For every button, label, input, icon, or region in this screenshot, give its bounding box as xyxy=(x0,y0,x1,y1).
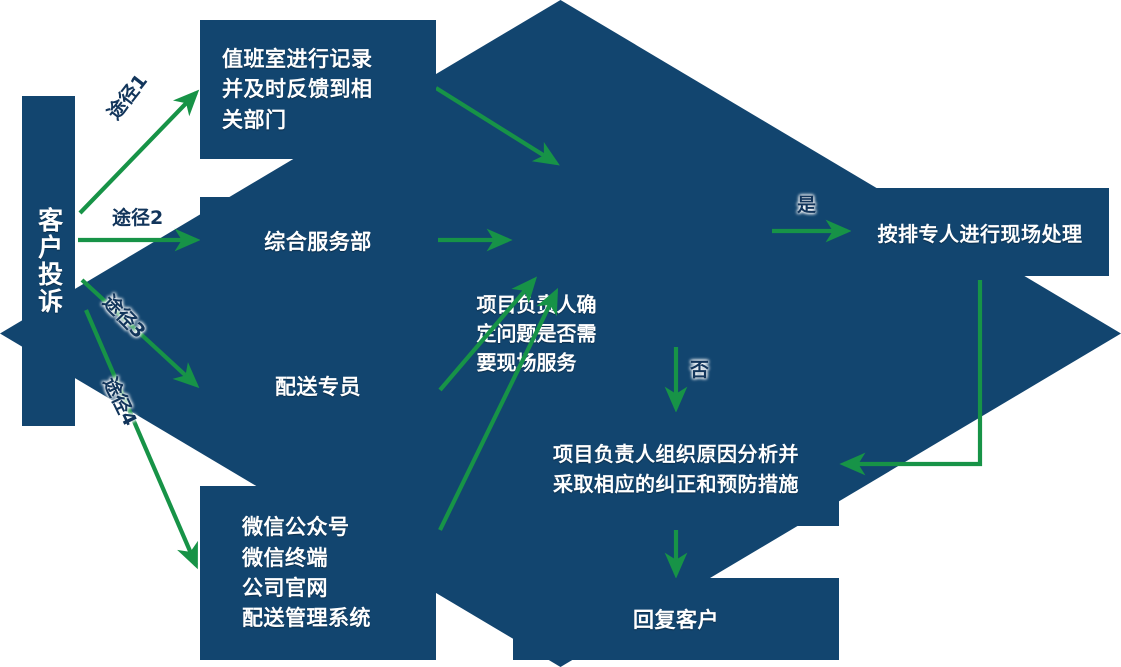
node-service-dept[interactable]: 综合服务部 xyxy=(200,197,436,285)
node-root-cause-analysis[interactable]: 项目负责人组织原因分析并 采取相应的纠正和预防措施 xyxy=(513,412,839,526)
node-channels[interactable]: 微信公众号 微信终端 公司官网 配送管理系统 xyxy=(200,486,436,660)
node-service-dept-label: 综合服务部 xyxy=(264,226,372,256)
node-decision-label: 项目负责人确 定问题是否需 要现场服务 xyxy=(477,290,645,377)
node-duty-room[interactable]: 值班室进行记录 并及时反馈到相 关部门 xyxy=(200,20,436,159)
node-onsite-handling[interactable]: 按排专人进行现场处理 xyxy=(851,188,1109,276)
node-channels-label: 微信公众号 微信终端 公司官网 配送管理系统 xyxy=(242,512,371,634)
node-duty-room-label: 值班室进行记录 并及时反馈到相 关部门 xyxy=(222,44,373,135)
node-customer-complaint[interactable]: 客户投诉 xyxy=(22,96,75,426)
node-reply-customer[interactable]: 回复客户 xyxy=(513,578,839,660)
node-onsite-handling-label: 按排专人进行现场处理 xyxy=(878,218,1083,247)
node-root-cause-analysis-label: 项目负责人组织原因分析并 采取相应的纠正和预防措施 xyxy=(553,439,799,499)
node-customer-complaint-label: 客户投诉 xyxy=(35,207,61,315)
node-reply-customer-label: 回复客户 xyxy=(633,604,719,634)
edge-label-yes: 是 xyxy=(797,190,816,217)
edge-label-route2: 途径2 xyxy=(112,203,163,230)
flowchart-canvas: 客户投诉 值班室进行记录 并及时反馈到相 关部门 综合服务部 配送专员 微信公众… xyxy=(0,0,1121,667)
node-delivery-agent[interactable]: 配送专员 xyxy=(200,342,436,430)
node-delivery-agent-label: 配送专员 xyxy=(275,371,361,401)
edge-label-no: 否 xyxy=(690,355,709,382)
